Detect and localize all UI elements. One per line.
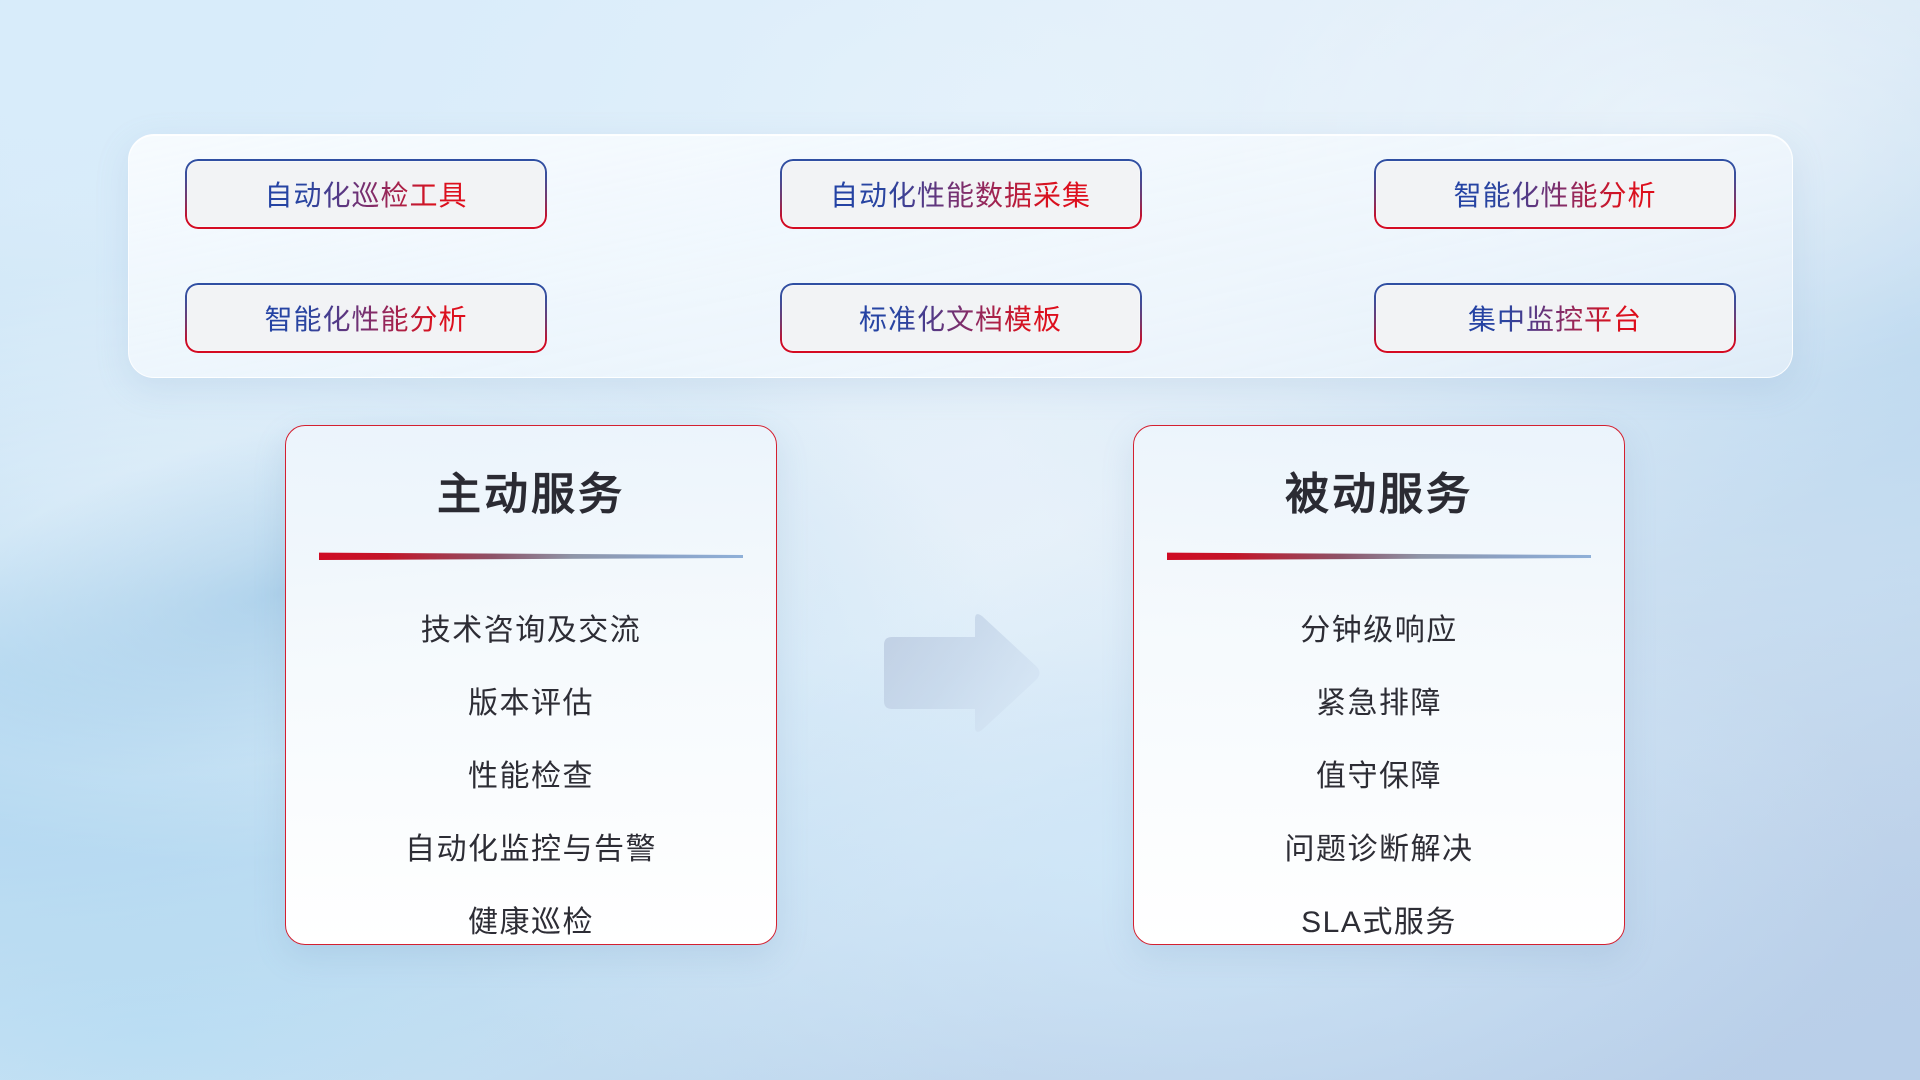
capability-tag-automated-inspection-tool[interactable]: 自动化巡检工具 [187, 161, 545, 227]
service-list-item[interactable]: 问题诊断解决 [1134, 813, 1624, 886]
service-list-item[interactable]: SLA式服务 [1134, 886, 1624, 945]
panel-title: 被动服务 [1134, 458, 1624, 522]
capability-tag-intelligent-performance-analysis-2[interactable]: 智能化性能分析 [187, 285, 545, 351]
panel-title-rule [319, 551, 743, 560]
capability-row-2: 智能化性能分析 标准化文档模板 集中监控平台 [187, 285, 1734, 351]
service-list-item[interactable]: 健康巡检 [286, 886, 776, 945]
capability-tag-standardized-document-template[interactable]: 标准化文档模板 [782, 285, 1140, 351]
service-list-item[interactable]: 自动化监控与告警 [286, 813, 776, 886]
panel-title-rule [1167, 551, 1591, 560]
service-list-item[interactable]: 分钟级响应 [1134, 594, 1624, 667]
service-list-item[interactable]: 紧急排障 [1134, 667, 1624, 740]
capability-tag-label: 标准化文档模板 [859, 298, 1062, 338]
capability-panel: 自动化巡检工具 自动化性能数据采集 智能化性能分析 智能化性能分析 标准化文档模… [128, 134, 1793, 378]
right-arrow-icon [878, 613, 1042, 737]
capability-tag-label: 自动化巡检工具 [264, 174, 467, 214]
capability-tag-intelligent-performance-analysis-1[interactable]: 智能化性能分析 [1376, 161, 1734, 227]
capability-tag-automated-performance-data-collection[interactable]: 自动化性能数据采集 [782, 161, 1140, 227]
service-panel-proactive: 主动服务 技术咨询及交流 版本评估 性能检查 自动化监控与告警 健康巡检 [285, 425, 777, 945]
capability-row-1: 自动化巡检工具 自动化性能数据采集 智能化性能分析 [187, 161, 1734, 227]
service-list-item[interactable]: 版本评估 [286, 667, 776, 740]
capability-tag-centralized-monitoring-platform[interactable]: 集中监控平台 [1376, 285, 1734, 351]
capability-tag-label: 自动化性能数据采集 [830, 174, 1091, 214]
capability-tag-label: 集中监控平台 [1468, 298, 1642, 338]
panel-title: 主动服务 [286, 458, 776, 522]
service-list-item[interactable]: 值守保障 [1134, 740, 1624, 813]
capability-tag-label: 智能化性能分析 [1453, 174, 1656, 214]
service-list-item[interactable]: 技术咨询及交流 [286, 594, 776, 667]
capability-tag-label: 智能化性能分析 [264, 298, 467, 338]
service-panel-reactive: 被动服务 分钟级响应 紧急排障 值守保障 问题诊断解决 SLA式服务 [1133, 425, 1625, 945]
service-item-list: 分钟级响应 紧急排障 值守保障 问题诊断解决 SLA式服务 [1134, 594, 1624, 945]
service-item-list: 技术咨询及交流 版本评估 性能检查 自动化监控与告警 健康巡检 [286, 594, 776, 945]
service-list-item[interactable]: 性能检查 [286, 740, 776, 813]
